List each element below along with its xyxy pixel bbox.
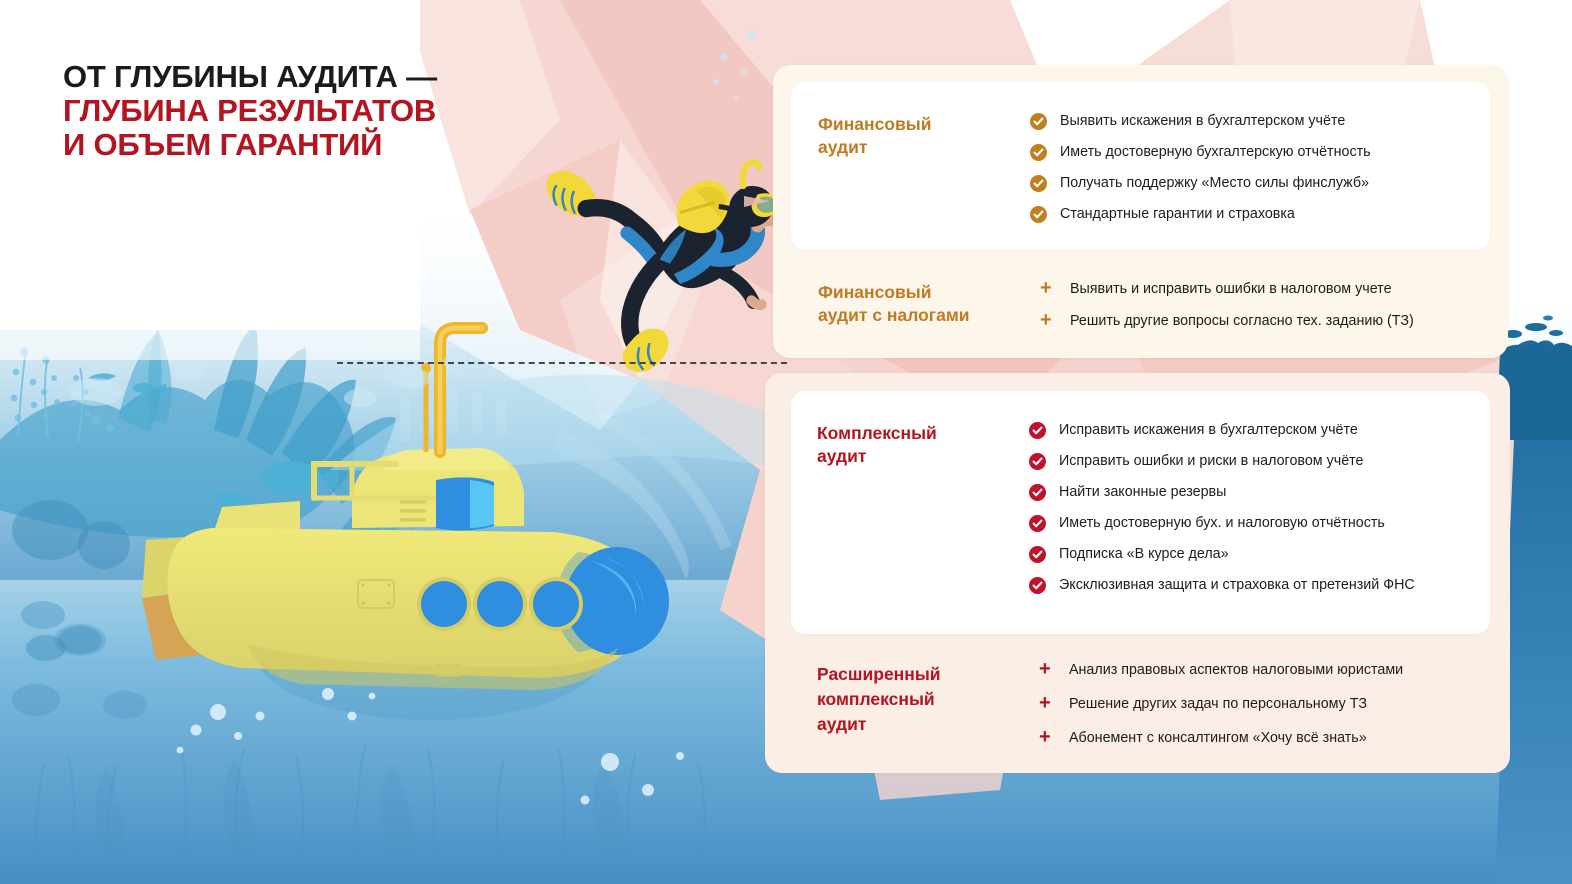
check-circle-icon: [1029, 421, 1059, 439]
list-item-text: Исправить ошибки и риски в налоговом учё…: [1059, 452, 1363, 470]
plus-icon: +: [1039, 729, 1069, 747]
list-item: + Решение других задач по персональному …: [1039, 695, 1497, 713]
benefit-list-complex-audit: Исправить искажения в бухгалтерском учёт…: [1029, 421, 1477, 607]
check-circle-icon: [1029, 452, 1059, 470]
infographic-canvas: ОТ ГЛУБИНЫ АУДИТА — ГЛУБИНА РЕЗУЛЬТАТОВ …: [0, 0, 1572, 884]
list-item-text: Исправить искажения в бухгалтерском учёт…: [1059, 421, 1358, 439]
page-title: ОТ ГЛУБИНЫ АУДИТА — ГЛУБИНА РЕЗУЛЬТАТОВ …: [63, 60, 533, 162]
list-item: Иметь достоверную бух. и налоговую отчёт…: [1029, 514, 1477, 532]
list-item: + Выявить и исправить ошибки в налоговом…: [1040, 280, 1498, 298]
list-item-text: Иметь достоверную бухгалтерскую отчётнос…: [1060, 143, 1371, 161]
heading-line-2: аудит с налогами: [818, 304, 1040, 327]
list-item: + Абонемент с консалтингом «Хочу всё зна…: [1039, 729, 1497, 747]
check-circle-icon: [1029, 514, 1059, 532]
list-item-text: Решение других задач по персональному ТЗ: [1069, 695, 1367, 713]
benefit-list-financial-audit: Выявить искажения в бухгалтерском учёте …: [1030, 112, 1478, 236]
title-line-1: ОТ ГЛУБИНЫ АУДИТА —: [63, 60, 533, 94]
list-item-text: Подписка «В курсе дела»: [1059, 545, 1229, 563]
check-circle-icon: [1030, 112, 1060, 130]
list-item: Эксклюзивная защита и страховка от прете…: [1029, 576, 1477, 594]
list-item-text: Получать поддержку «Место силы финслужб»: [1060, 174, 1369, 192]
portholes: [417, 577, 583, 631]
list-item: Выявить искажения в бухгалтерском учёте: [1030, 112, 1478, 130]
plus-icon: +: [1039, 695, 1069, 713]
check-circle-icon: [1030, 143, 1060, 161]
list-item: Найти законные резервы: [1029, 483, 1477, 501]
heading-line-2: комплексный: [817, 687, 1039, 712]
title-line-2: ГЛУБИНА РЕЗУЛЬТАТОВ: [63, 94, 533, 128]
check-circle-icon: [1030, 205, 1060, 223]
list-item-text: Найти законные резервы: [1059, 483, 1226, 501]
section-extended-complex-audit: Расширенный комплексный аудит + Анализ п…: [817, 661, 1497, 763]
list-item-text: Анализ правовых аспектов налоговыми юрис…: [1069, 661, 1403, 679]
list-item-text: Эксклюзивная защита и страховка от прете…: [1059, 576, 1415, 594]
list-item: Получать поддержку «Место силы финслужб»: [1030, 174, 1478, 192]
section-heading-extended-complex-audit: Расширенный комплексный аудит: [817, 661, 1039, 737]
section-financial-audit: Финансовый аудит Выявить искажения в бух…: [818, 112, 1478, 236]
list-item-text: Стандартные гарантии и страховка: [1060, 205, 1295, 223]
list-item: Стандартные гарантии и страховка: [1030, 205, 1478, 223]
check-circle-icon: [1029, 576, 1059, 594]
section-heading-financial-audit-with-taxes: Финансовый аудит с налогами: [818, 280, 1040, 327]
list-item-text: Выявить и исправить ошибки в налоговом у…: [1070, 280, 1392, 298]
heading-line-3: аудит: [817, 712, 1039, 737]
list-item: Иметь достоверную бухгалтерскую отчётнос…: [1030, 143, 1478, 161]
list-item-text: Решить другие вопросы согласно тех. зада…: [1070, 312, 1414, 330]
section-complex-audit: Комплексный аудит Исправить искажения в …: [817, 421, 1477, 607]
list-item: + Решить другие вопросы согласно тех. за…: [1040, 312, 1498, 330]
section-heading-financial-audit: Финансовый аудит: [818, 112, 1030, 159]
heading-line-1: Финансовый: [818, 281, 1040, 304]
benefit-list-financial-audit-with-taxes: + Выявить и исправить ошибки в налоговом…: [1040, 280, 1498, 344]
panel-financial: Финансовый аудит Выявить искажения в бух…: [773, 65, 1508, 358]
check-circle-icon: [1030, 174, 1060, 192]
list-item-text: Иметь достоверную бух. и налоговую отчёт…: [1059, 514, 1385, 532]
check-circle-icon: [1029, 483, 1059, 501]
list-item: Подписка «В курсе дела»: [1029, 545, 1477, 563]
section-financial-audit-with-taxes: Финансовый аудит с налогами + Выявить и …: [818, 280, 1498, 344]
list-item-text: Выявить искажения в бухгалтерском учёте: [1060, 112, 1345, 130]
list-item: Исправить искажения в бухгалтерском учёт…: [1029, 421, 1477, 439]
heading-line-2: аудит: [817, 445, 1029, 468]
list-item: + Анализ правовых аспектов налоговыми юр…: [1039, 661, 1497, 679]
list-item: Исправить ошибки и риски в налоговом учё…: [1029, 452, 1477, 470]
list-item-text: Абонемент с консалтингом «Хочу всё знать…: [1069, 729, 1367, 747]
heading-line-2: аудит: [818, 136, 1030, 159]
title-line-3: И ОБЪЕМ ГАРАНТИЙ: [63, 128, 533, 162]
heading-line-1: Финансовый: [818, 113, 1030, 136]
plus-icon: +: [1039, 661, 1069, 679]
benefit-list-extended-complex-audit: + Анализ правовых аспектов налоговыми юр…: [1039, 661, 1497, 763]
plus-icon: +: [1040, 312, 1070, 330]
check-circle-icon: [1029, 545, 1059, 563]
heading-line-1: Комплексный: [817, 422, 1029, 445]
dashed-depth-line: [337, 362, 787, 364]
plus-icon: +: [1040, 280, 1070, 298]
section-heading-complex-audit: Комплексный аудит: [817, 421, 1029, 468]
panel-complex: Комплексный аудит Исправить искажения в …: [765, 373, 1510, 773]
heading-line-1: Расширенный: [817, 662, 1039, 687]
